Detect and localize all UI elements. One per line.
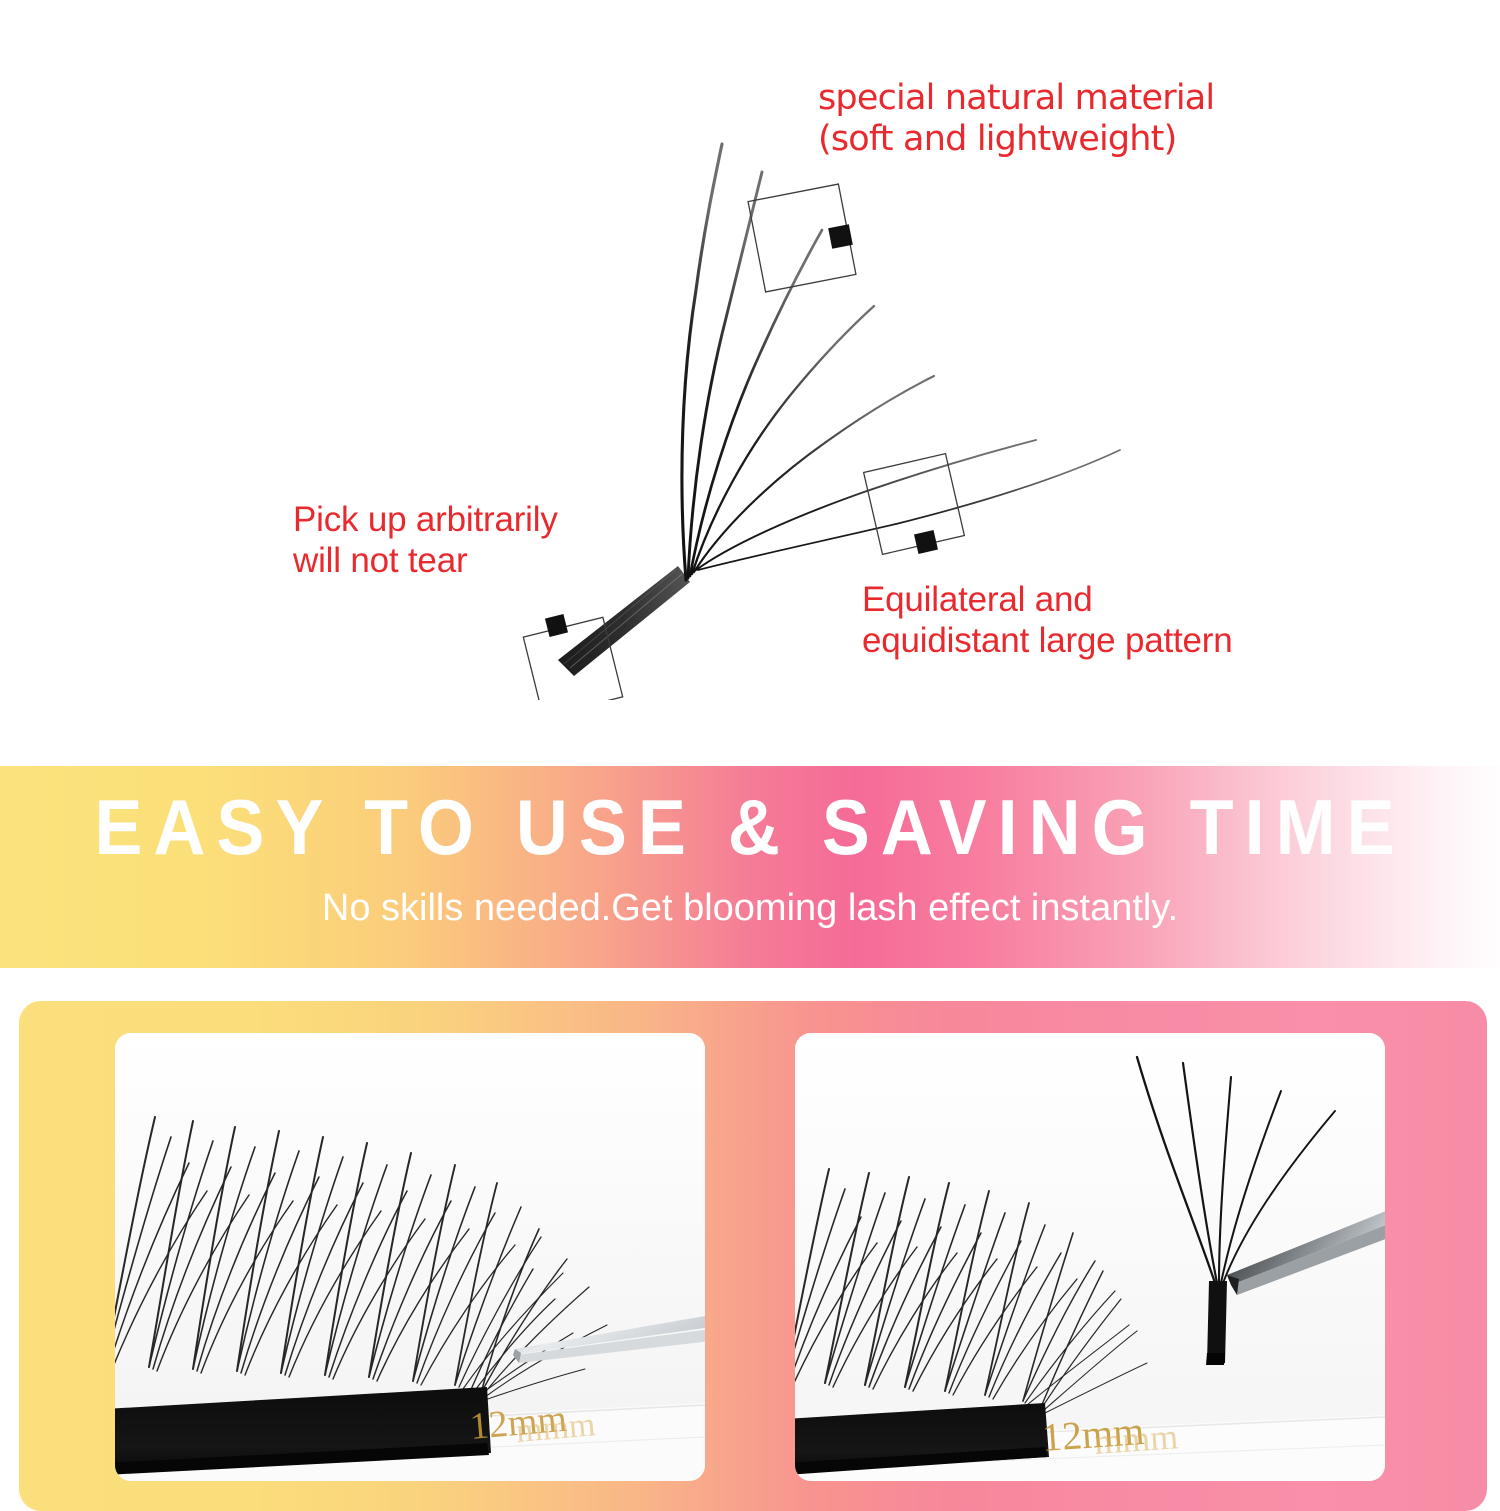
svg-text:mmm: mmm [1093, 1416, 1180, 1462]
lash-filaments [682, 144, 1120, 580]
photo-lash-tray-with-tweezers: 12mm mmm [115, 1033, 705, 1481]
lash-fan-diagram [500, 120, 1160, 700]
photo-lash-fan-lifted-by-tweezers: 12mm mmm [795, 1033, 1385, 1481]
photo-card-lash-fan-lifted: 12mm mmm [795, 1033, 1385, 1481]
lash-fan-base [558, 566, 690, 676]
feature-diagram-section: special natural material (soft and light… [0, 0, 1500, 765]
product-photo-panel: 12mm mmm [19, 1001, 1487, 1511]
svg-text:mmm: mmm [514, 1406, 596, 1450]
photo-card-lash-tray-with-tweezers: 12mm mmm [115, 1033, 705, 1481]
annotation-marker-lower [864, 454, 965, 555]
easy-to-use-banner: EASY TO USE & SAVING TIME No skills need… [0, 766, 1500, 968]
banner-title: EASY TO USE & SAVING TIME [0, 789, 1500, 867]
banner-subtitle: No skills needed.Get blooming lash effec… [0, 888, 1500, 930]
annotation-marker-middle [748, 184, 856, 292]
